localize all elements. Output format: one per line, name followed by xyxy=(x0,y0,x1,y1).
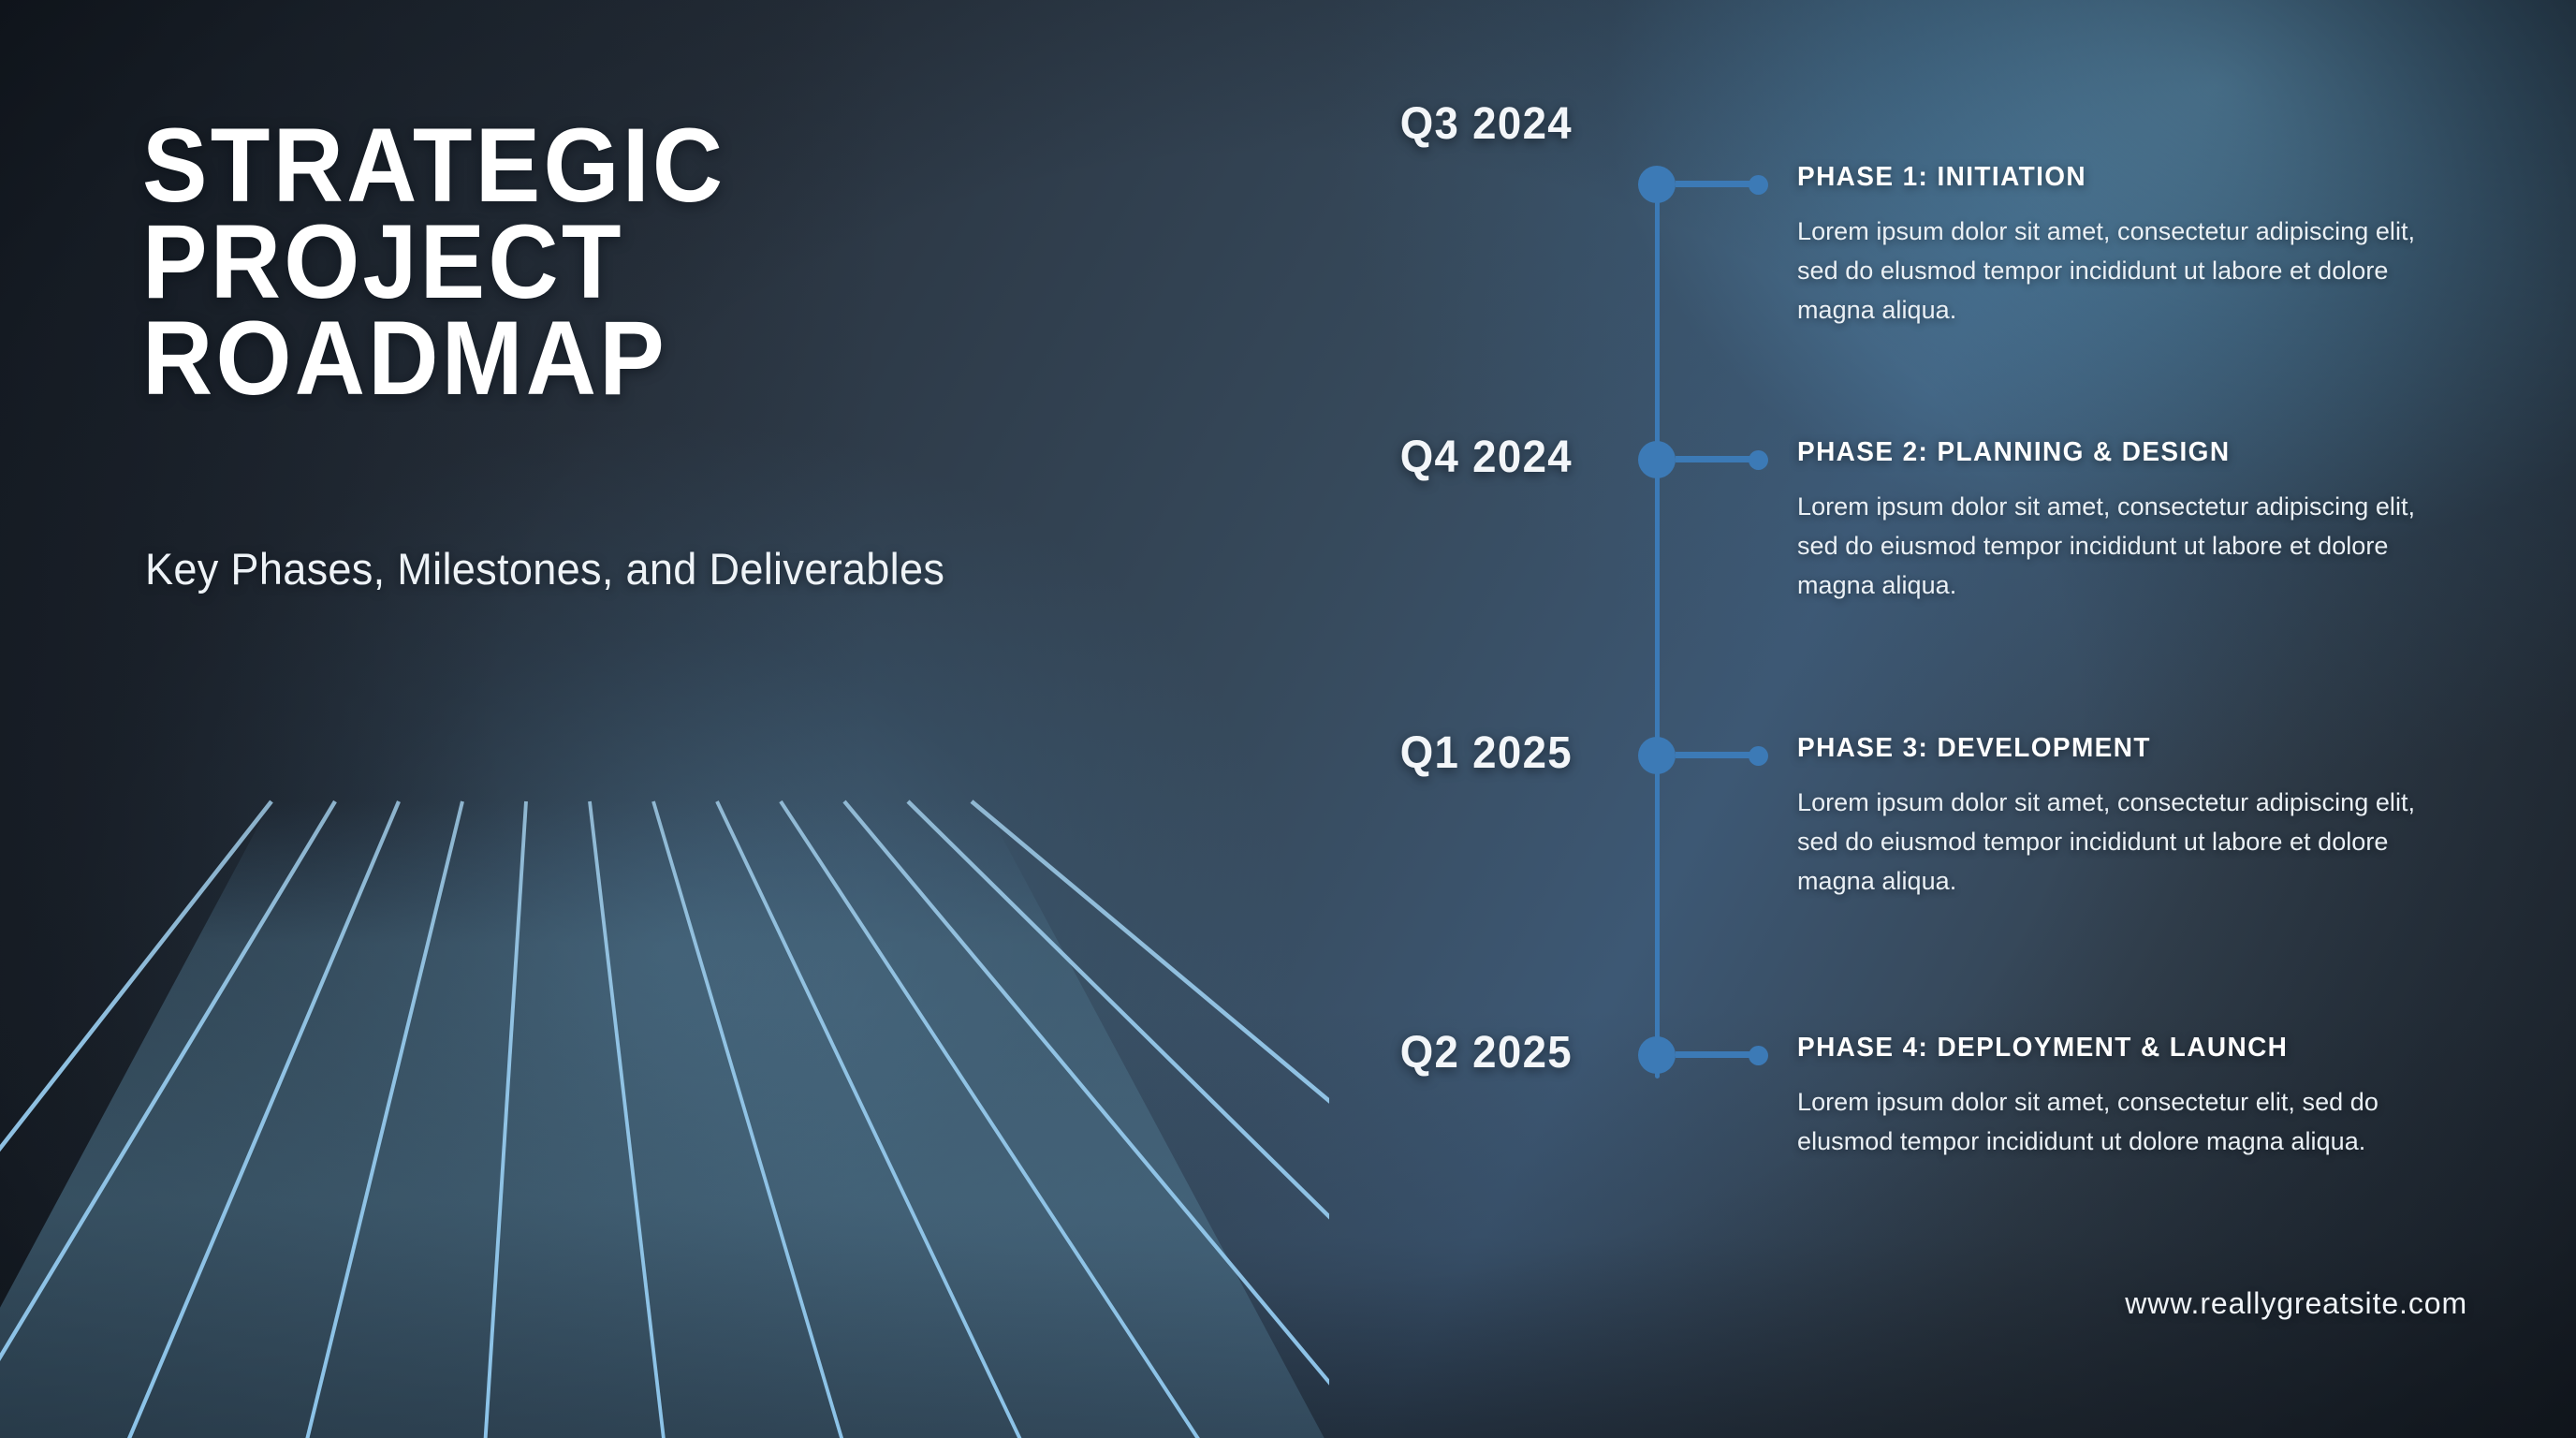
timeline-phase-description: Lorem ipsum dolor sit amet, consectetur … xyxy=(1797,213,2434,330)
timeline-content: PHASE 3: DEVELOPMENT Lorem ipsum dolor s… xyxy=(1797,733,2452,902)
timeline-quarter-label: Q1 2025 xyxy=(1400,727,1573,779)
page-title: STRATEGIC PROJECT ROADMAP xyxy=(142,117,1172,406)
poster-canvas: STRATEGIC PROJECT ROADMAP Key Phases, Mi… xyxy=(0,0,2576,1438)
website-url[interactable]: www.reallygreatsite.com xyxy=(2125,1286,2467,1321)
perspective-grid-icon xyxy=(0,792,1329,1438)
timeline-content: PHASE 1: INITIATION Lorem ipsum dolor si… xyxy=(1797,162,2452,330)
timeline-phase-description: Lorem ipsum dolor sit amet, consectetur … xyxy=(1797,1083,2434,1162)
timeline-phase-heading: PHASE 2: PLANNING & DESIGN xyxy=(1797,437,2430,468)
timeline-quarter-label: Q3 2024 xyxy=(1400,98,1573,150)
timeline-phase-heading: PHASE 3: DEVELOPMENT xyxy=(1797,733,2430,764)
timeline-node-dot[interactable] xyxy=(1638,441,1676,478)
timeline-node-dot[interactable] xyxy=(1638,737,1676,774)
timeline-connector-dot xyxy=(1749,746,1768,766)
timeline-quarter-label: Q4 2024 xyxy=(1400,432,1573,483)
timeline: Q3 2024 PHASE 1: INITIATION Lorem ipsum … xyxy=(1292,0,2576,1438)
left-column: STRATEGIC PROJECT ROADMAP Key Phases, Mi… xyxy=(0,0,1292,1438)
timeline-node-dot[interactable] xyxy=(1638,166,1676,203)
timeline-content: PHASE 4: DEPLOYMENT & LAUNCH Lorem ipsum… xyxy=(1797,1033,2452,1162)
timeline-phase-description: Lorem ipsum dolor sit amet, consectetur … xyxy=(1797,488,2434,606)
timeline-content: PHASE 2: PLANNING & DESIGN Lorem ipsum d… xyxy=(1797,437,2452,606)
timeline-axis-line xyxy=(1655,184,1660,1078)
title-line-1: STRATEGIC xyxy=(142,117,1100,213)
timeline-phase-heading: PHASE 1: INITIATION xyxy=(1797,162,2430,193)
page-subtitle: Key Phases, Milestones, and Deliverables xyxy=(145,543,944,594)
timeline-connector-dot xyxy=(1749,450,1768,470)
title-line-2: PROJECT xyxy=(142,213,1100,310)
timeline-phase-description: Lorem ipsum dolor sit amet, consectetur … xyxy=(1797,784,2434,902)
timeline-connector-dot xyxy=(1749,1046,1768,1065)
title-line-3: ROADMAP xyxy=(142,310,1100,406)
timeline-quarter-label: Q2 2025 xyxy=(1400,1027,1573,1078)
timeline-node-dot[interactable] xyxy=(1638,1036,1676,1074)
timeline-phase-heading: PHASE 4: DEPLOYMENT & LAUNCH xyxy=(1797,1033,2430,1064)
timeline-connector-dot xyxy=(1749,175,1768,195)
